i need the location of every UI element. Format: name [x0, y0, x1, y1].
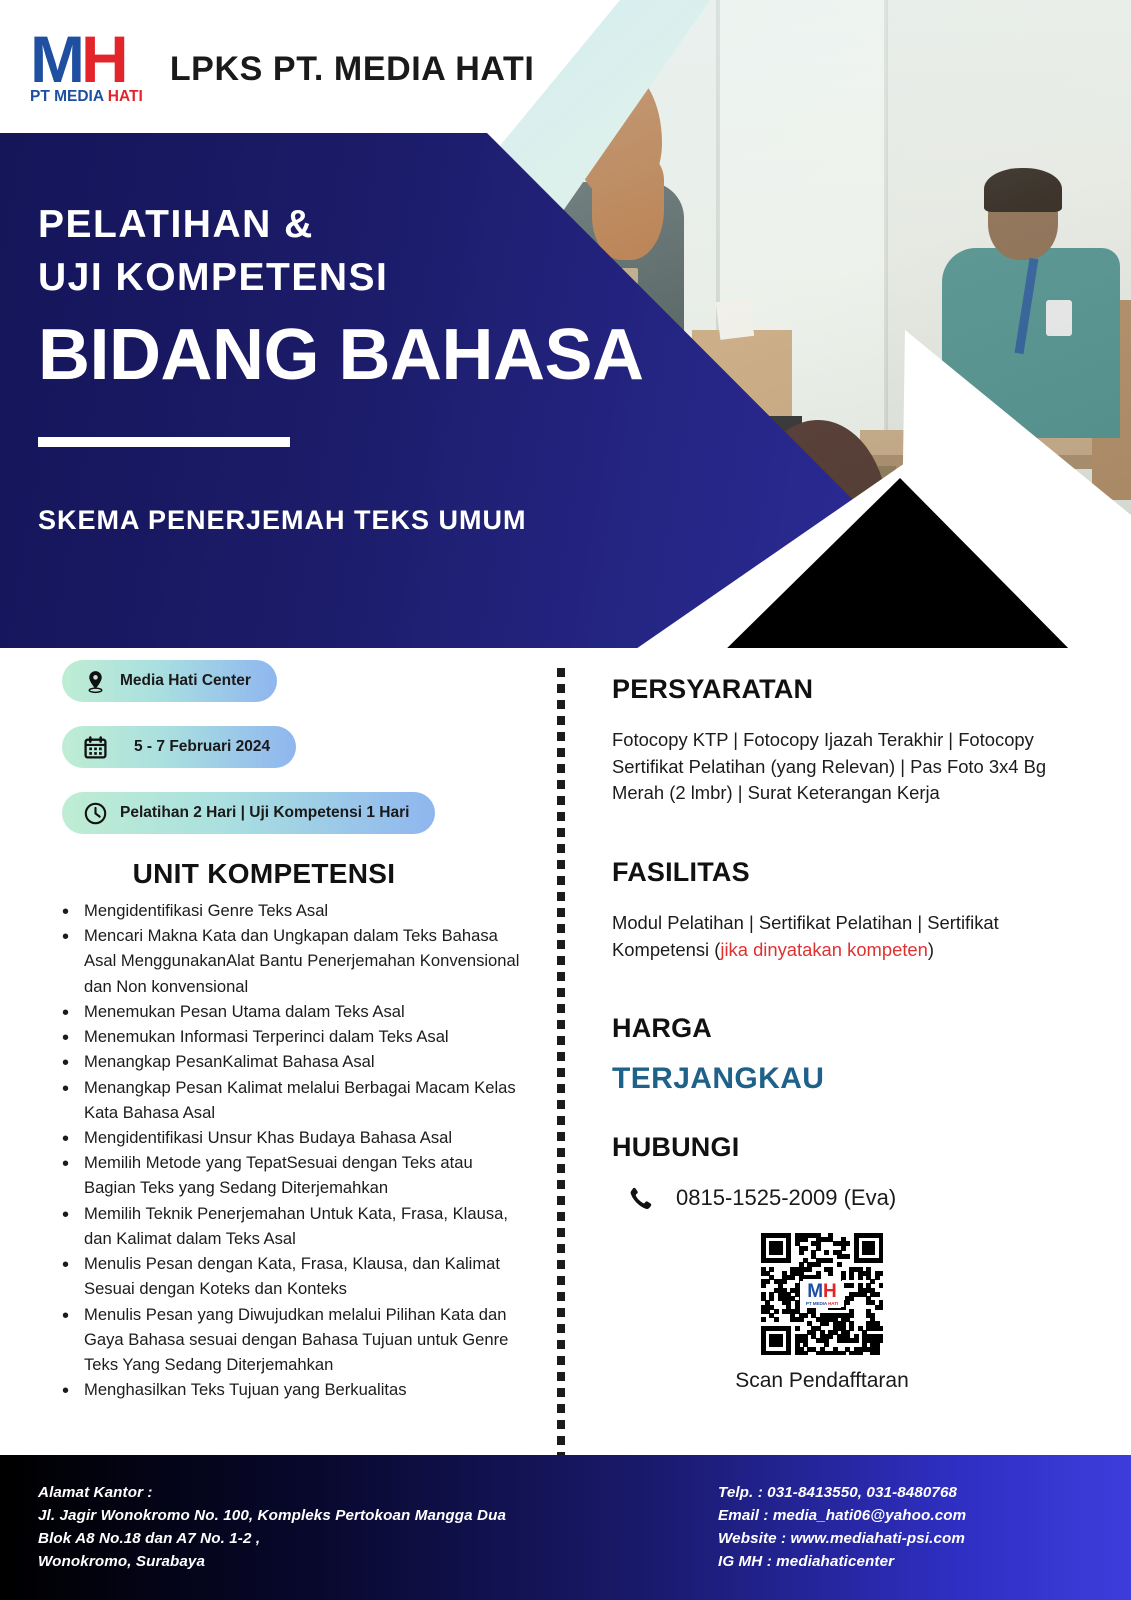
logo-letter-m: M: [30, 32, 81, 86]
footer-contact-line[interactable]: Email : media_hati06@yahoo.com: [718, 1504, 1131, 1527]
list-item: Mengidentifikasi Unsur Khas Budaya Bahas…: [58, 1125, 528, 1150]
logo-subtext-red: HATI: [108, 88, 143, 105]
poster-root: PELATIHAN & UJI KOMPETENSI BIDANG BAHASA…: [0, 0, 1131, 1600]
contact-phone-number: 0815-1525-2009 (Eva): [676, 1185, 896, 1211]
dotted-divider: [557, 668, 565, 1458]
fasilitas-body-post: ): [928, 939, 934, 960]
harga-value: TERJANGKAU: [612, 1062, 1072, 1096]
clock-icon: [82, 800, 108, 826]
qr-code[interactable]: MH PT MEDIA HATI: [761, 1233, 883, 1355]
unit-kompetensi-list: Mengidentifikasi Genre Teks Asal Mencari…: [58, 898, 528, 1402]
list-item: Mengidentifikasi Genre Teks Asal: [58, 898, 528, 923]
qr-logo-sub-blue: PT MEDIA: [806, 1301, 827, 1306]
hero-rule: [38, 437, 290, 447]
page-title: LPKS PT. MEDIA HATI: [170, 50, 535, 89]
content-area: Media Hati Center 5 - 7 Februari 2024 Pe…: [0, 660, 1131, 1455]
list-item: Memilih Teknik Penerjemahan Untuk Kata, …: [58, 1201, 528, 1251]
logo-subtext: PT MEDIA HATI: [30, 88, 143, 106]
list-item: Memilih Metode yang TepatSesuai dengan T…: [58, 1150, 528, 1200]
footer-bar: Alamat Kantor : Jl. Jagir Wonokromo No. …: [0, 1455, 1131, 1600]
logo-letter-h: H: [81, 32, 126, 86]
fasilitas-heading: FASILITAS: [612, 857, 1072, 888]
badge-date-label: 5 - 7 Februari 2024: [134, 738, 270, 756]
hero-scheme-label: SKEMA PENERJEMAH TEKS UMUM: [38, 505, 644, 536]
contact-phone-row[interactable]: 0815-1525-2009 (Eva): [612, 1185, 1072, 1211]
list-item: Menangkap PesanKalimat Bahasa Asal: [58, 1049, 528, 1074]
qr-center-logo: MH PT MEDIA HATI: [800, 1281, 844, 1307]
qr-logo-h: H: [823, 1281, 837, 1302]
footer-address-line: Blok A8 No.18 dan A7 No. 1-2 ,: [38, 1527, 660, 1550]
list-item: Menangkap Pesan Kalimat melalui Berbagai…: [58, 1075, 528, 1125]
footer-contact-line[interactable]: Website : www.mediahati-psi.com: [718, 1527, 1131, 1550]
badge-date: 5 - 7 Februari 2024: [62, 726, 296, 768]
footer-contact-block: Telp. : 031-8413550, 031-8480768 Email :…: [660, 1481, 1131, 1600]
badge-duration: Pelatihan 2 Hari | Uji Kompetensi 1 Hari: [62, 792, 435, 834]
hero-bottom-edge: [0, 648, 1131, 660]
left-column: Media Hati Center 5 - 7 Februari 2024 Pe…: [0, 660, 548, 1402]
footer-address-line: Alamat Kantor :: [38, 1481, 660, 1504]
fasilitas-body: Modul Pelatihan | Sertifikat Pelatihan |…: [612, 910, 1072, 963]
footer-address-block: Alamat Kantor : Jl. Jagir Wonokromo No. …: [0, 1481, 660, 1600]
hero-text-block: PELATIHAN & UJI KOMPETENSI BIDANG BAHASA…: [38, 198, 644, 536]
persyaratan-heading: PERSYARATAN: [612, 674, 1072, 705]
location-pin-icon: [82, 668, 108, 694]
calendar-icon: [82, 734, 108, 760]
right-column: PERSYARATAN Fotocopy KTP | Fotocopy Ijaz…: [612, 674, 1072, 1393]
phone-icon: [626, 1185, 652, 1211]
list-item: Menemukan Informasi Terperinci dalam Tek…: [58, 1024, 528, 1049]
qr-caption: Scan Pendafftaran: [735, 1369, 909, 1393]
hero-line-1: PELATIHAN &: [38, 198, 644, 251]
badge-location-label: Media Hati Center: [120, 672, 251, 690]
qr-logo-sub-red: HATI: [828, 1301, 838, 1306]
mh-logo: M H PT MEDIA HATI: [30, 32, 143, 106]
footer-contact-line: Telp. : 031-8413550, 031-8480768: [718, 1481, 1131, 1504]
qr-registration-block[interactable]: MH PT MEDIA HATI Scan Pendafftaran: [612, 1233, 1072, 1393]
hero-headline: BIDANG BAHASA: [38, 315, 644, 396]
footer-address-line: Jl. Jagir Wonokromo No. 100, Kompleks Pe…: [38, 1504, 660, 1527]
harga-heading: HARGA: [612, 1013, 1072, 1044]
qr-logo-m: M: [807, 1281, 823, 1302]
list-item: Menulis Pesan yang Diwujudkan melalui Pi…: [58, 1302, 528, 1378]
list-item: Menghasilkan Teks Tujuan yang Berkualita…: [58, 1377, 528, 1402]
unit-kompetensi-title: UNIT KOMPETENSI: [0, 858, 548, 890]
brand-header: M H PT MEDIA HATI LPKS PT. MEDIA HATI: [30, 32, 534, 106]
hubungi-heading: HUBUNGI: [612, 1132, 1072, 1163]
hero-line-2: UJI KOMPETENSI: [38, 251, 644, 304]
badge-duration-label: Pelatihan 2 Hari | Uji Kompetensi 1 Hari: [120, 804, 409, 822]
list-item: Mencari Makna Kata dan Ungkapan dalam Te…: [58, 923, 528, 999]
logo-subtext-blue: PT MEDIA: [30, 88, 103, 105]
persyaratan-body: Fotocopy KTP | Fotocopy Ijazah Terakhir …: [612, 727, 1072, 807]
footer-contact-line[interactable]: IG MH : mediahaticenter: [718, 1550, 1131, 1573]
footer-address-line: Wonokromo, Surabaya: [38, 1550, 660, 1573]
fasilitas-body-red: jika dinyatakan kompeten: [720, 939, 928, 960]
list-item: Menemukan Pesan Utama dalam Teks Asal: [58, 999, 528, 1024]
list-item: Menulis Pesan dengan Kata, Frasa, Klausa…: [58, 1251, 528, 1301]
badge-location: Media Hati Center: [62, 660, 277, 702]
